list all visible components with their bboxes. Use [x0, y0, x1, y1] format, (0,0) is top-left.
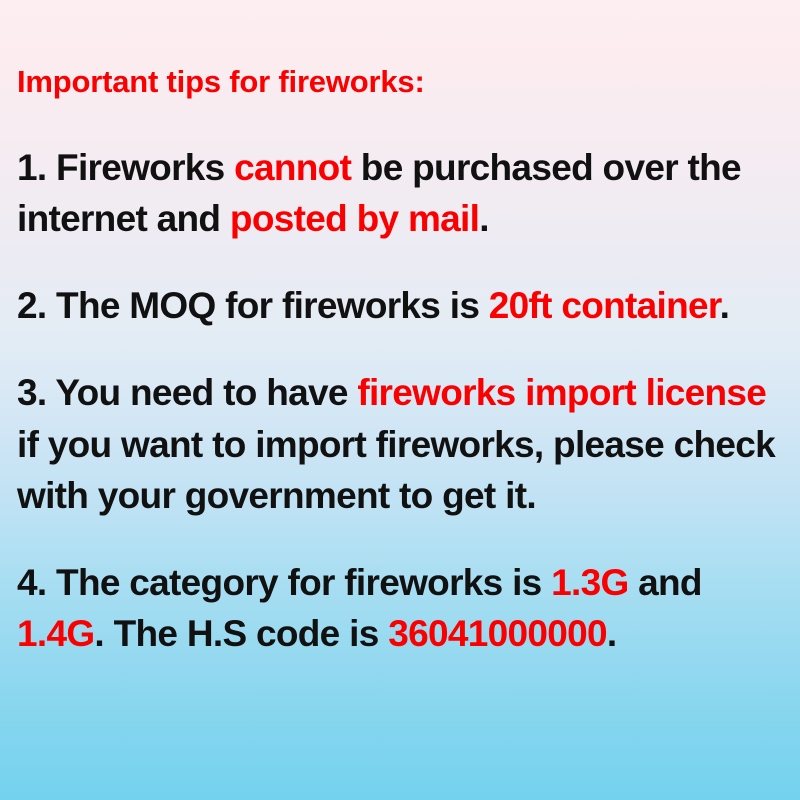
page-title: Important tips for fireworks: — [17, 64, 783, 101]
tip-1-segment-1: cannot — [234, 147, 351, 188]
tip-4-segment-0: 4. The category for fireworks is — [17, 562, 551, 603]
tip-4-segment-4: . The H.S code is — [94, 613, 388, 654]
fireworks-tips-poster: Important tips for fireworks: 1. Firewor… — [0, 0, 800, 800]
tip-1-segment-4: . — [479, 198, 489, 239]
tip-item-1: 1. Fireworks cannot be purchased over th… — [17, 142, 783, 244]
tip-3-segment-2: if you want to import fireworks, please … — [17, 424, 775, 516]
tip-4-segment-2: and — [629, 562, 702, 603]
tip-3-segment-1: fireworks import license — [357, 372, 766, 413]
tip-item-3: 3. You need to have fireworks import lic… — [17, 367, 783, 521]
tip-2-segment-2: . — [720, 285, 730, 326]
poster-content: Important tips for fireworks: 1. Firewor… — [17, 64, 783, 659]
tip-4-segment-1: 1.3G — [551, 562, 628, 603]
tip-4-segment-3: 1.4G — [17, 613, 94, 654]
tip-2-segment-0: 2. The MOQ for fireworks is — [17, 285, 489, 326]
tip-1-segment-3: posted by mail — [230, 198, 479, 239]
tip-3-segment-0: 3. You need to have — [17, 372, 357, 413]
tip-1-segment-0: 1. Fireworks — [17, 147, 234, 188]
tip-4-segment-6: . — [607, 613, 617, 654]
tip-4-segment-5: 36041000000 — [388, 613, 607, 654]
tip-item-4: 4. The category for fireworks is 1.3G an… — [17, 557, 783, 659]
tip-2-segment-1: 20ft container — [489, 285, 720, 326]
tip-item-2: 2. The MOQ for fireworks is 20ft contain… — [17, 280, 783, 331]
